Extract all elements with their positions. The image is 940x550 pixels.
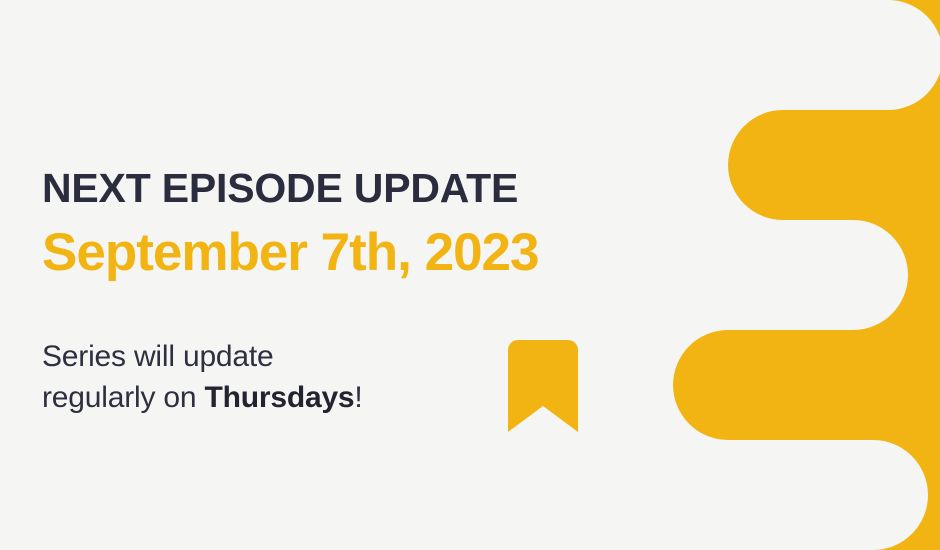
headline-group: NEXT EPISODE UPDATE September 7th, 2023 [42, 168, 762, 281]
page-title: NEXT EPISODE UPDATE [42, 168, 762, 209]
schedule-note-prefix: regularly on [42, 381, 205, 414]
schedule-note-weekday: Thursdays [205, 381, 355, 414]
schedule-note-line-2: regularly on Thursdays! [42, 377, 512, 418]
schedule-note-line-1: Series will update [42, 336, 512, 377]
schedule-note-suffix: ! [354, 381, 362, 414]
schedule-note: Series will update regularly on Thursday… [42, 336, 512, 418]
bookmark-icon [508, 340, 578, 432]
next-episode-banner: NEXT EPISODE UPDATE September 7th, 2023 … [0, 0, 940, 550]
episode-date: September 7th, 2023 [42, 225, 762, 281]
